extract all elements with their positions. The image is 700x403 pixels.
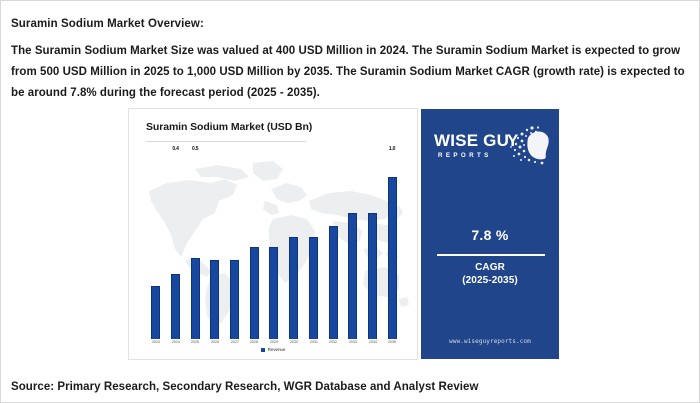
bar[interactable] [368,213,377,339]
legend-swatch-icon [261,348,265,352]
cagr-caption-line1: CAGR [421,261,559,274]
x-axis-labels: 2023 2024 2025 2026 2027 2028 2029 2030 … [143,340,405,344]
bar[interactable] [151,286,160,339]
source-citation: Source: Primary Research, Secondary Rese… [11,381,478,393]
x-axis-tick: 2033 [342,340,363,344]
bar-slot [244,153,264,339]
x-axis-tick: 2029 [264,340,285,344]
cagr-caption-line2: (2025-2035) [421,274,559,287]
bar-slot: 0.4 [166,153,186,339]
brand-panel: WISE GU Y REPORTS [420,108,560,360]
x-axis-tick: 2032 [323,340,344,344]
bar-slot [284,153,304,339]
bar-slot [363,153,383,339]
bar[interactable] [388,177,397,339]
x-axis-tick: 2028 [244,340,265,344]
x-axis-tick: 2034 [362,340,383,344]
x-axis-tick: 2024 [165,340,186,344]
bar-slot [343,153,363,339]
cagr-caption: CAGR (2025-2035) [421,261,559,287]
chart-title-divider [146,141,306,142]
x-axis-tick: 2025 [185,340,206,344]
bar[interactable] [191,258,200,339]
chart-title: Suramin Sodium Market (USD Bn) [146,121,312,133]
x-axis-tick: 2023 [146,340,167,344]
bar[interactable] [348,213,357,339]
bar-slot [323,153,343,339]
market-figure: Suramin Sodium Market (USD Bn) [128,108,560,360]
x-axis-tick: 2027 [224,340,245,344]
bar[interactable] [289,237,298,339]
cagr-divider [437,254,545,256]
bar[interactable] [329,226,338,339]
overview-body-text: The Suramin Sodium Market Size was value… [11,41,689,104]
bar-chart-card: Suramin Sodium Market (USD Bn) [128,108,418,360]
legend-label: Revenue [268,347,286,352]
plot-area: 0.4 0.5 [143,153,405,339]
bar[interactable] [269,247,278,339]
screenshot-root: Suramin Sodium Market Overview: The Sura… [0,0,700,403]
chart-legend: Revenue [129,347,417,352]
bar-value-label: 1.0 [389,146,395,152]
bar[interactable] [250,247,259,339]
bar-value-label: 0.4 [172,146,178,152]
bar-slot [264,153,284,339]
brand-website-url[interactable]: www.wiseguyreports.com [421,338,559,345]
bar-slot [304,153,324,339]
bar[interactable] [309,237,318,339]
x-axis-tick: 2026 [205,340,226,344]
bar-slot: 1.0 [382,153,402,339]
bar[interactable] [171,274,180,339]
bar[interactable] [210,260,219,339]
x-axis-tick: 2030 [283,340,304,344]
bar-slot: 0.5 [185,153,205,339]
bar-series-revenue: 0.4 0.5 [143,153,405,339]
bar[interactable] [230,260,239,339]
bar-slot [205,153,225,339]
x-axis-tick: 2035 [382,340,403,344]
wise-guy-reports-logo-icon: WISE GU Y REPORTS [432,126,550,168]
cagr-value: 7.8 % [421,227,559,243]
bar-slot [225,153,245,339]
svg-text:REPORTS: REPORTS [438,152,492,159]
overview-heading: Suramin Sodium Market Overview: [11,18,204,30]
svg-text:WISE GU: WISE GU [434,131,509,150]
bar-slot [146,153,166,339]
svg-text:Y: Y [507,131,519,150]
bar-value-label: 0.5 [192,146,198,152]
x-axis-tick: 2031 [303,340,324,344]
